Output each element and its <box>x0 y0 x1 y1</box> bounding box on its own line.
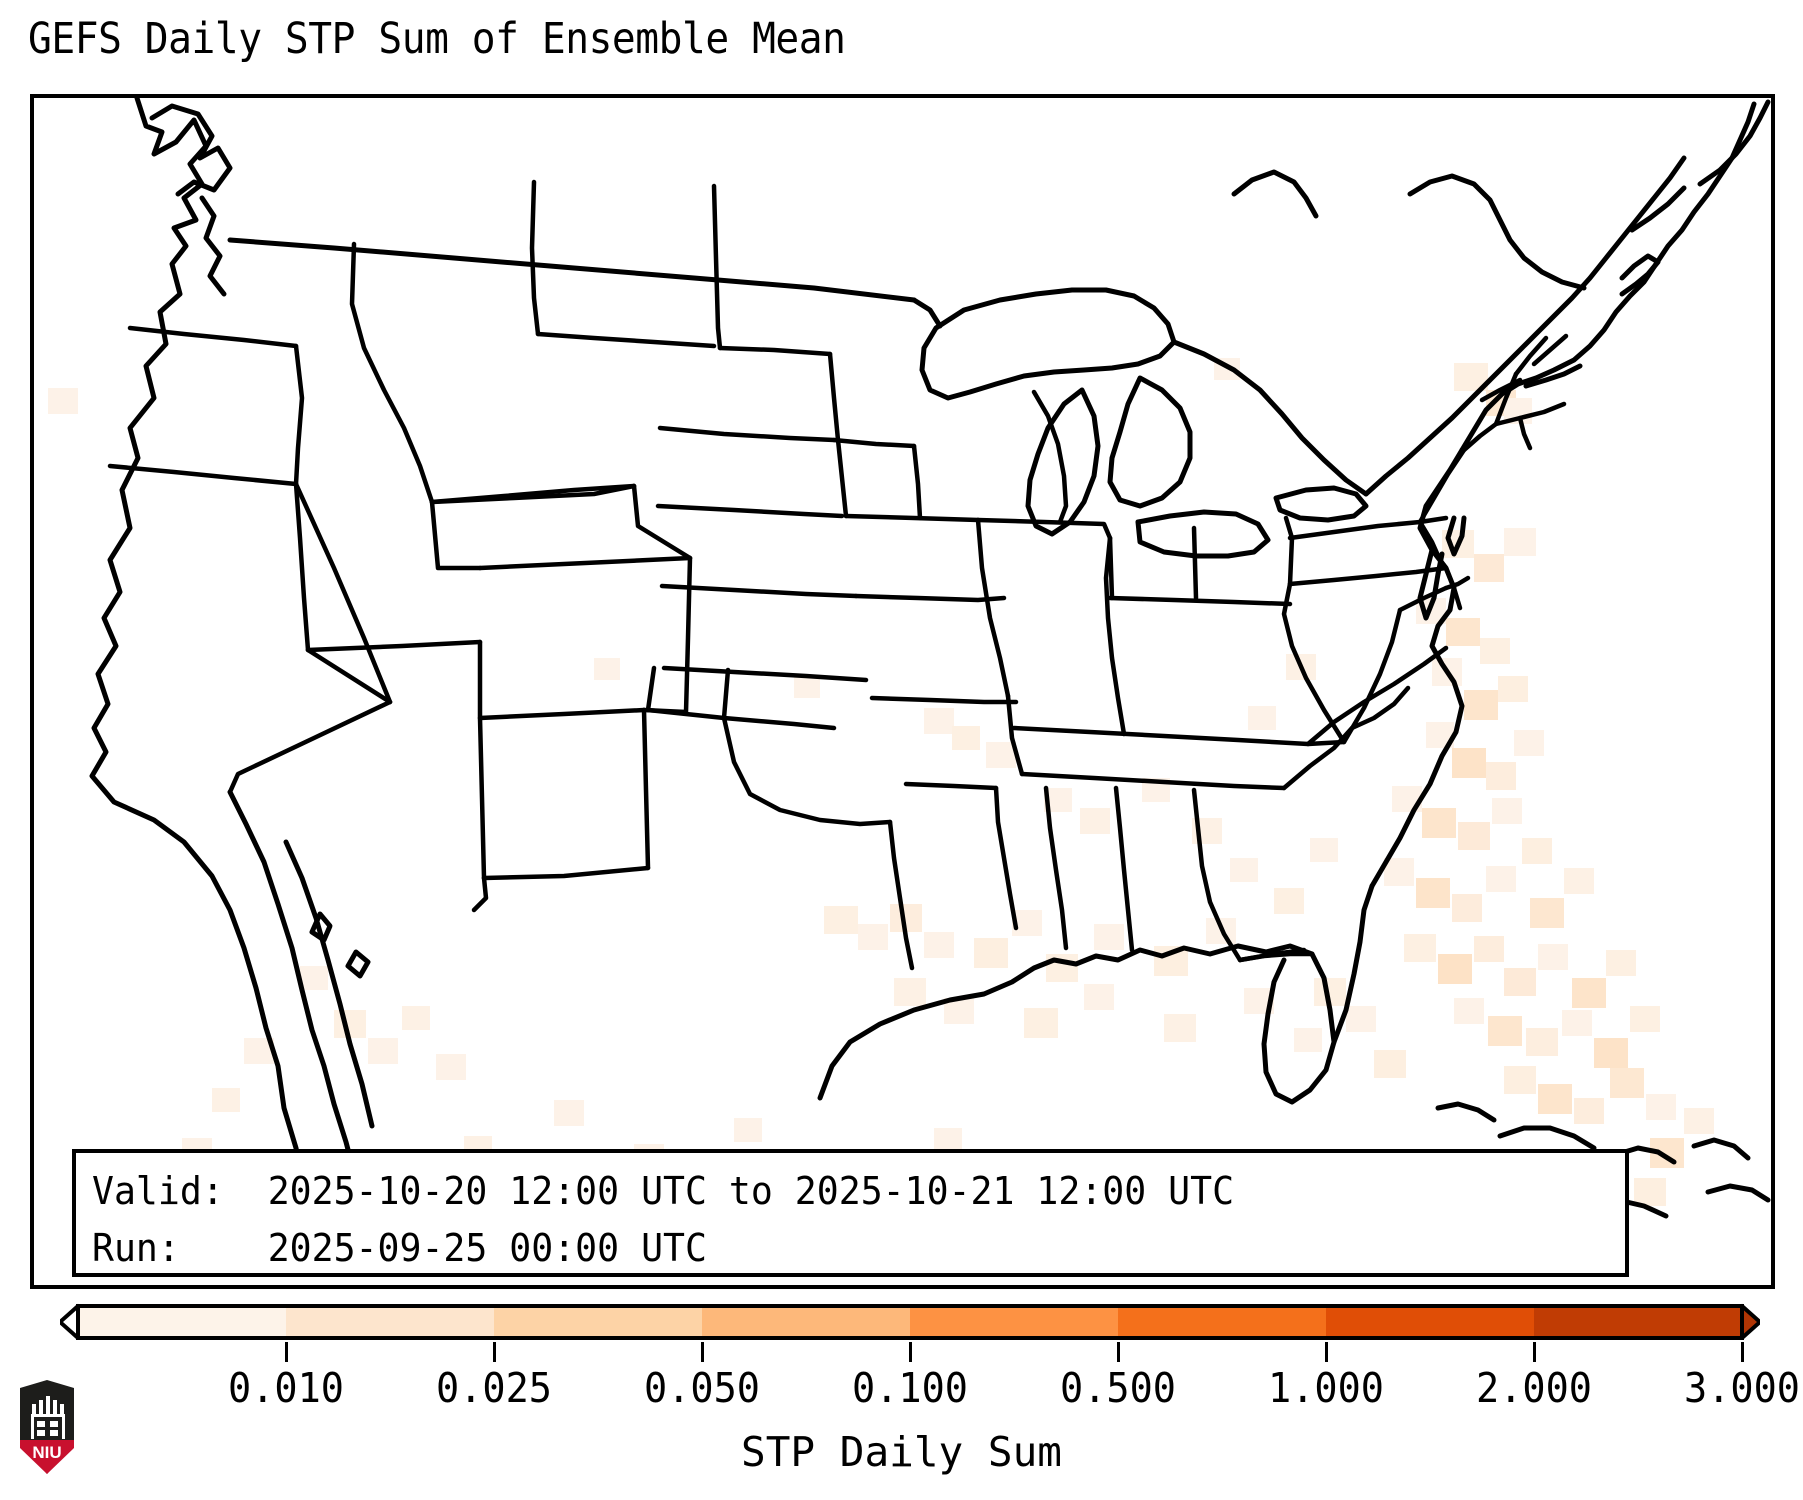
run-time-line: Run: 2025-09-25 00:00 UTC <box>92 1220 1564 1277</box>
state-borders-layer <box>110 182 1566 968</box>
colorbar-tick <box>1533 1342 1536 1362</box>
map-canvas <box>34 98 1771 1285</box>
colorbar-band <box>78 1308 286 1336</box>
colorbar-tick <box>285 1342 288 1362</box>
colorbar-band <box>702 1308 910 1336</box>
colorbar-tick <box>493 1342 496 1362</box>
niu-shield-icon: NIU <box>16 1378 78 1476</box>
colorbar-ticks: 0.0100.0250.0500.1000.5001.0002.0003.000 <box>0 1342 1803 1402</box>
colorbar-tick-label: 3.000 <box>1684 1364 1800 1412</box>
colorbar[interactable] <box>60 1300 1760 1344</box>
info-box: Valid: 2025-10-20 12:00 UTC to 2025-10-2… <box>72 1149 1629 1277</box>
colorbar-tick-label: 0.050 <box>644 1364 760 1412</box>
colorbar-tick <box>701 1342 704 1362</box>
coastline-layer <box>92 98 1768 1228</box>
colorbar-tick-label: 0.010 <box>228 1364 344 1412</box>
colorbar-tick <box>1325 1342 1328 1362</box>
niu-logo-text: NIU <box>32 1443 61 1462</box>
colorbar-tick-label: 0.500 <box>1060 1364 1176 1412</box>
colorbar-band <box>1534 1308 1742 1336</box>
colorbar-tick-label: 2.000 <box>1476 1364 1592 1412</box>
colorbar-band <box>286 1308 494 1336</box>
niu-logo: NIU <box>16 1378 78 1476</box>
colorbar-band <box>494 1308 702 1336</box>
colorbar-band <box>1326 1308 1534 1336</box>
map-panel[interactable]: Valid: 2025-10-20 12:00 UTC to 2025-10-2… <box>30 94 1775 1289</box>
colorbar-band <box>1118 1308 1326 1336</box>
colorbar-gradient <box>60 1300 1760 1344</box>
colorbar-band <box>910 1308 1118 1336</box>
colorbar-tick <box>1741 1342 1744 1362</box>
colorbar-tick-label: 0.025 <box>436 1364 552 1412</box>
colorbar-tick-label: 1.000 <box>1268 1364 1384 1412</box>
colorbar-tick-label: 0.100 <box>852 1364 968 1412</box>
colorbar-label: STP Daily Sum <box>0 1428 1803 1476</box>
colorbar-tick <box>909 1342 912 1362</box>
valid-time-line: Valid: 2025-10-20 12:00 UTC to 2025-10-2… <box>92 1163 1564 1220</box>
page-title: GEFS Daily STP Sum of Ensemble Mean <box>28 14 846 64</box>
colorbar-tick <box>1117 1342 1120 1362</box>
